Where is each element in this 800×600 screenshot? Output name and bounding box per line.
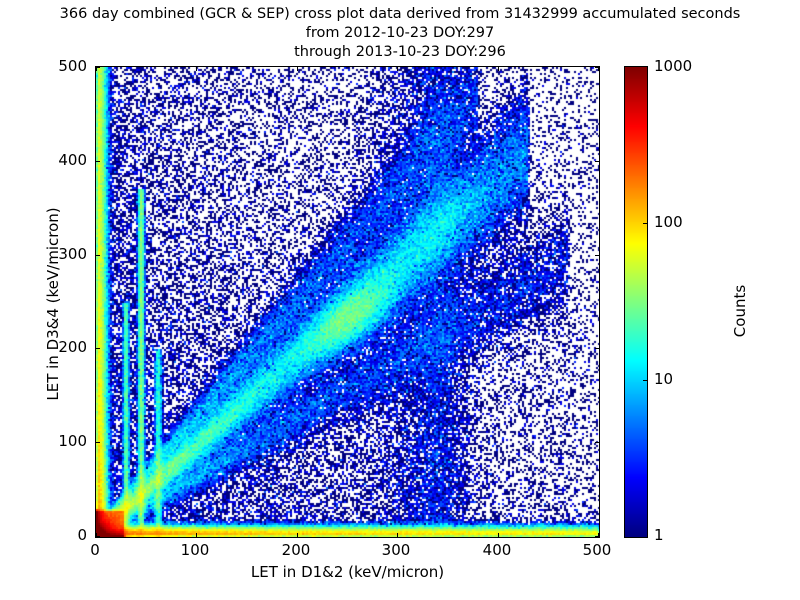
y-tick-label: 500 <box>27 57 87 75</box>
y-tick-right <box>595 536 599 537</box>
colorbar-tick-label: 1000 <box>654 57 692 75</box>
y-tick-right <box>595 161 599 162</box>
plot-axes <box>95 66 600 538</box>
x-tick-top <box>297 67 298 71</box>
y-tick-left <box>96 442 100 443</box>
density-heatmap <box>96 67 599 537</box>
colorbar-label: Counts <box>731 211 749 411</box>
x-tick-bottom <box>397 533 398 537</box>
y-tick-left <box>96 255 100 256</box>
x-tick-top <box>498 67 499 71</box>
colorbar-tick <box>643 380 647 381</box>
colorbar-tick-label: 100 <box>654 213 683 231</box>
y-tick-label: 0 <box>27 526 87 544</box>
y-tick-left <box>96 161 100 162</box>
y-tick-left <box>96 67 100 68</box>
colorbar-gradient <box>625 67 647 537</box>
y-tick-right <box>595 348 599 349</box>
x-tick-bottom <box>297 533 298 537</box>
x-tick-top <box>397 67 398 71</box>
colorbar-tick-label: 10 <box>654 370 673 388</box>
x-axis-label: LET in D1&2 (keV/micron) <box>95 563 600 581</box>
x-tick-bottom <box>498 533 499 537</box>
plot-title: 366 day combined (GCR & SEP) cross plot … <box>0 5 800 62</box>
title-line-1: 366 day combined (GCR & SEP) cross plot … <box>0 5 800 24</box>
figure-canvas: 366 day combined (GCR & SEP) cross plot … <box>0 0 800 600</box>
x-tick-label: 400 <box>467 541 527 559</box>
x-tick-label: 300 <box>366 541 426 559</box>
x-tick-label: 200 <box>266 541 326 559</box>
x-tick-bottom <box>196 533 197 537</box>
x-tick-top <box>196 67 197 71</box>
y-tick-left <box>96 348 100 349</box>
x-tick-label: 500 <box>567 541 627 559</box>
colorbar-tick <box>643 223 647 224</box>
colorbar <box>624 66 648 538</box>
y-tick-left <box>96 536 100 537</box>
x-tick-label: 100 <box>165 541 225 559</box>
title-line-2: from 2012-10-23 DOY:297 <box>0 24 800 43</box>
y-tick-right <box>595 442 599 443</box>
y-tick-right <box>595 67 599 68</box>
y-axis-label: LET in D3&4 (keV/micron) <box>44 154 62 454</box>
colorbar-tick-label: 1 <box>654 526 664 544</box>
y-tick-right <box>595 255 599 256</box>
